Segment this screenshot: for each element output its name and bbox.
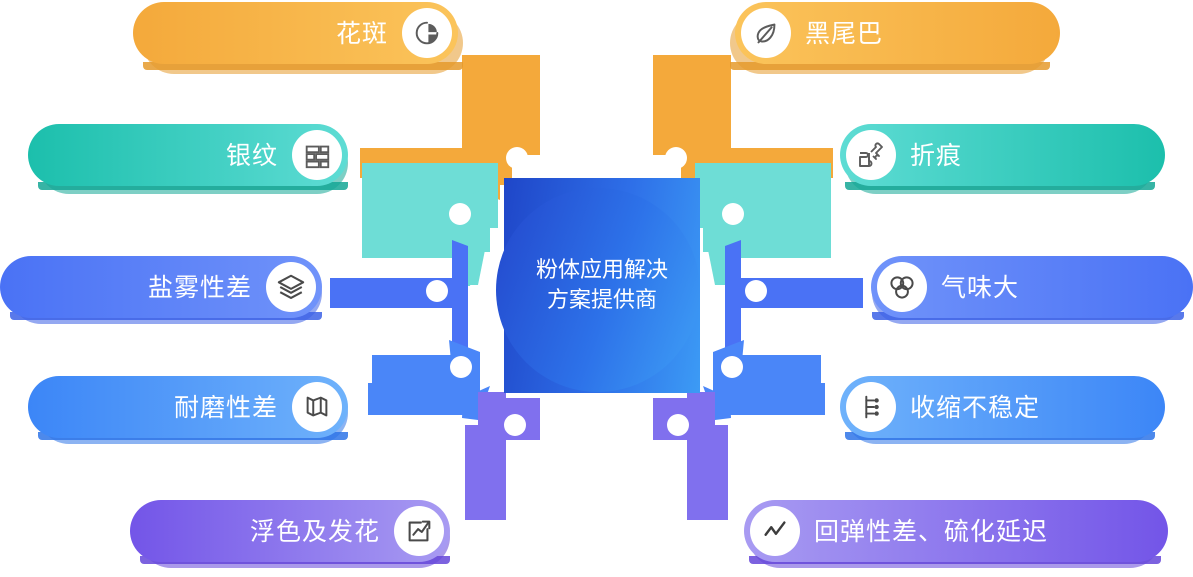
diagram-canvas: 粉体应用解决 方案提供商 花斑 银纹	[0, 0, 1193, 577]
recycle-icon	[877, 262, 927, 312]
leaf-icon	[741, 8, 791, 58]
node-item-label: 盐雾性差	[148, 275, 252, 300]
node-item-fu-se-ji-fa-hua[interactable]: 浮色及发花	[130, 500, 450, 562]
node-item-zhe-hen[interactable]: 折痕	[840, 124, 1165, 186]
node-item-shou-suo-bu-wen-ding[interactable]: 收缩不稳定	[840, 376, 1165, 438]
node-item-qi-wei-da[interactable]: 气味大	[871, 256, 1193, 318]
connector-node	[721, 356, 743, 378]
open-book-icon	[292, 382, 342, 432]
trend-up-box-icon	[394, 506, 444, 556]
center-label: 粉体应用解决 方案提供商	[504, 178, 700, 393]
connector-node	[504, 414, 526, 436]
node-item-label: 收缩不稳定	[910, 395, 1040, 420]
center-label-line1: 粉体应用解决	[536, 256, 668, 285]
node-item-label: 浮色及发花	[250, 519, 380, 544]
connector-teal-right	[695, 163, 831, 285]
node-item-nai-mo-xing-cha[interactable]: 耐磨性差	[28, 376, 348, 438]
node-item-yan-wu-xing-cha[interactable]: 盐雾性差	[0, 256, 322, 318]
hierarchy-icon	[846, 382, 896, 432]
connector-node	[450, 356, 472, 378]
connector-node	[667, 414, 689, 436]
center-label-line2: 方案提供商	[547, 286, 657, 315]
connector-node	[745, 280, 767, 302]
node-item-label: 回弹性差、硫化延迟	[814, 519, 1048, 544]
node-item-label: 黑尾巴	[805, 21, 883, 46]
node-item-yin-wen[interactable]: 银纹	[28, 124, 348, 186]
node-item-hei-wei-ba[interactable]: 黑尾巴	[735, 2, 1060, 64]
node-item-label: 花斑	[336, 21, 388, 46]
connector-node	[665, 147, 687, 169]
connector-teal-left	[362, 163, 498, 286]
node-item-label: 折痕	[910, 143, 962, 168]
line-chart-icon	[750, 506, 800, 556]
connector-blue2-right	[703, 340, 825, 420]
layers-icon	[266, 262, 316, 312]
node-item-label: 气味大	[941, 275, 1019, 300]
puzzle-icon	[846, 130, 896, 180]
connector-node	[506, 147, 528, 169]
connector-node	[722, 203, 744, 225]
connector-node	[449, 203, 471, 225]
connector-node	[426, 280, 448, 302]
brick-wall-icon	[292, 130, 342, 180]
pie-chart-icon	[402, 8, 452, 58]
node-item-hua-ban[interactable]: 花斑	[133, 2, 458, 64]
node-item-hui-tan-xing-cha[interactable]: 回弹性差、硫化延迟	[744, 500, 1168, 562]
node-item-label: 银纹	[226, 143, 278, 168]
connector-blue2-left	[368, 340, 490, 420]
node-item-label: 耐磨性差	[174, 395, 278, 420]
center-node[interactable]: 粉体应用解决 方案提供商	[504, 178, 700, 393]
